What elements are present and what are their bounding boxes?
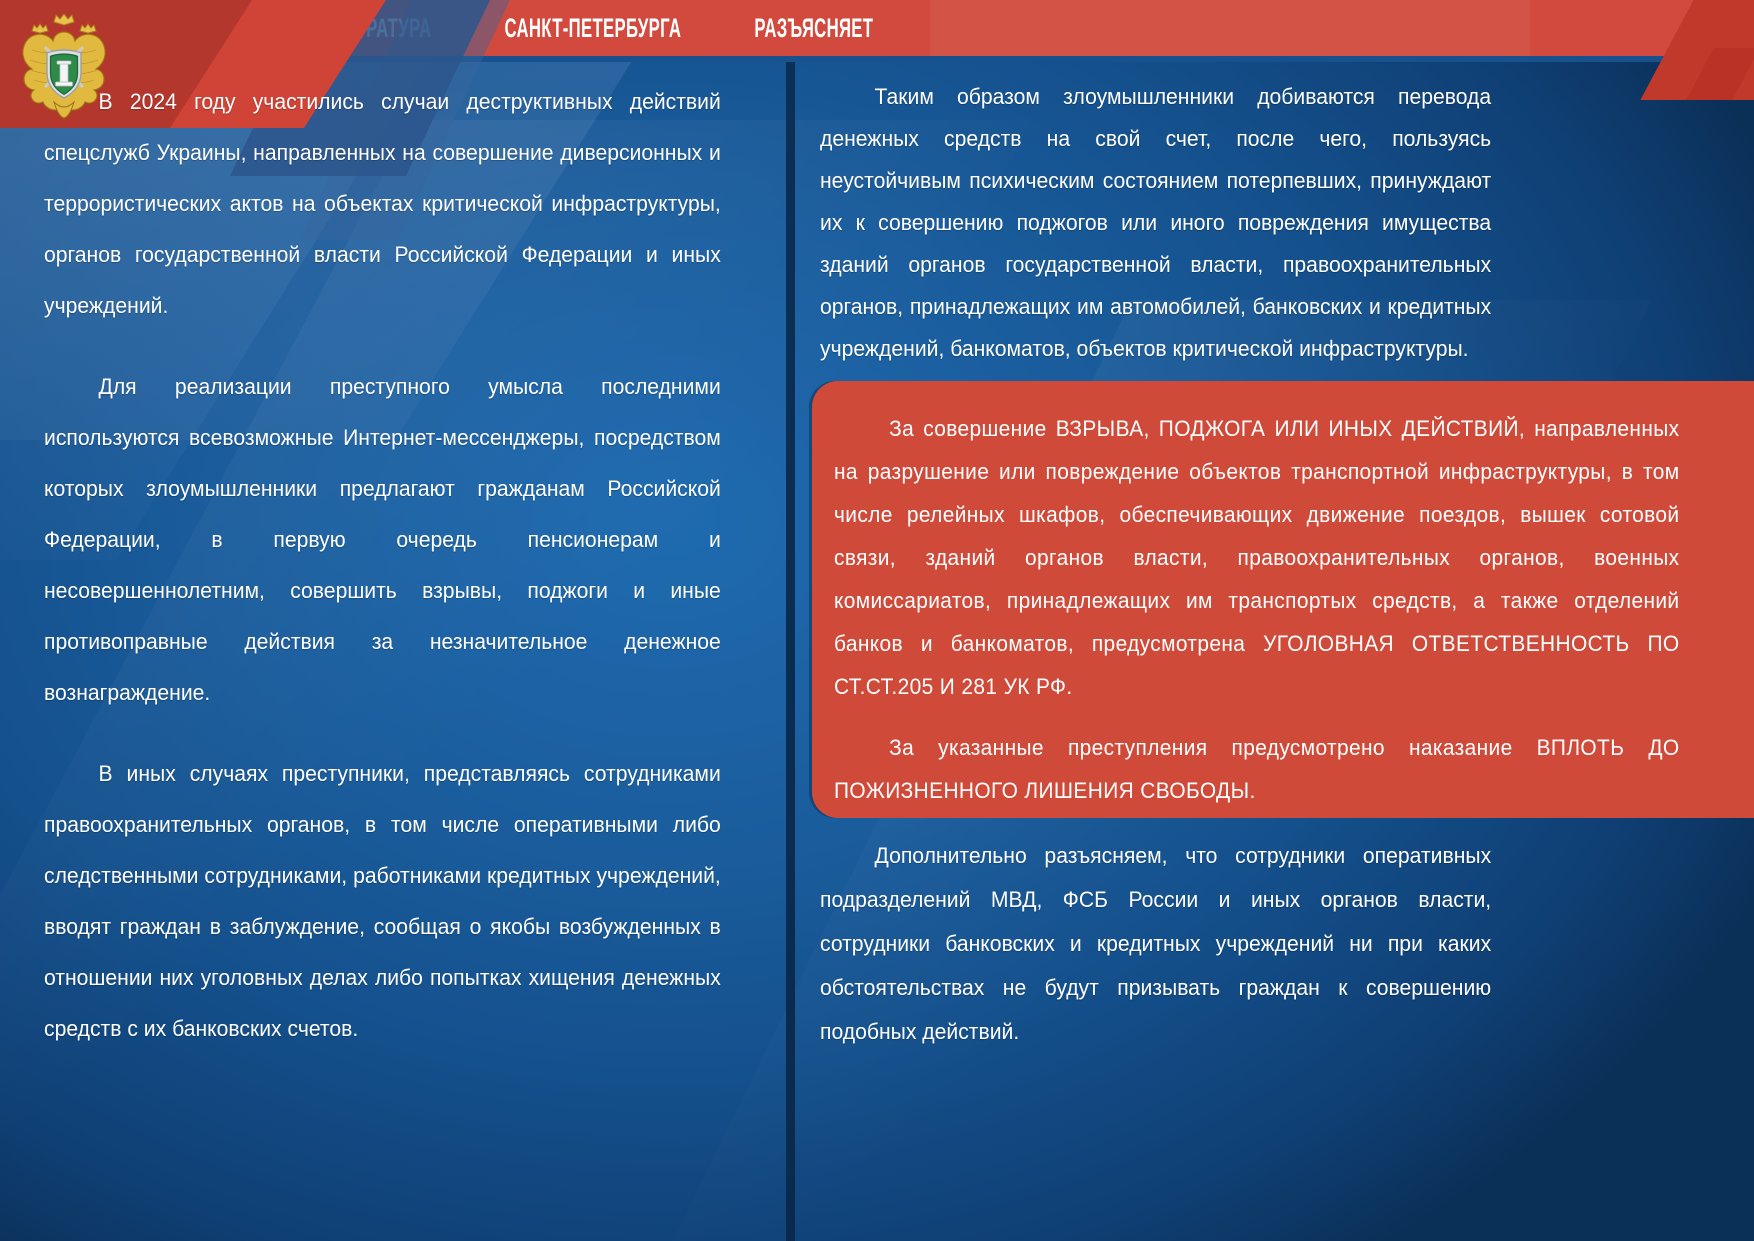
header-word-city: САНКТ-ПЕТЕРБУРГА <box>505 13 682 44</box>
callout-paragraph: За указанные преступления предусмотрено … <box>834 726 1680 812</box>
paragraph: В иных случаях преступники, представляяс… <box>44 748 721 1054</box>
right-text-column-bottom: Дополнительно разъясняем, что сотрудники… <box>820 834 1534 1054</box>
column-divider <box>786 62 795 1241</box>
paragraph: В 2024 году участились случаи деструктив… <box>44 76 721 331</box>
liability-callout-box: За совершение ВЗРЫВА, ПОДЖОГА ИЛИ ИНЫХ Д… <box>812 381 1754 818</box>
right-text-column-top: Таким образом злоумышленники добиваются … <box>820 76 1534 384</box>
left-text-column: В 2024 году участились случаи деструктив… <box>44 76 764 1054</box>
paragraph: Дополнительно разъясняем, что сотрудники… <box>820 834 1491 1054</box>
paragraph: Таким образом злоумышленники добиваются … <box>820 76 1491 370</box>
header-word-explains: РАЗЪЯСНЯЕТ <box>754 13 873 44</box>
poster-root: ПРОКУРАТУРА САНКТ-ПЕТЕРБУРГА РАЗЪЯСНЯЕТ <box>0 0 1754 1241</box>
callout-paragraph: За совершение ВЗРЫВА, ПОДЖОГА ИЛИ ИНЫХ Д… <box>834 407 1680 708</box>
paragraph: Для реализации преступного умысла послед… <box>44 361 721 718</box>
